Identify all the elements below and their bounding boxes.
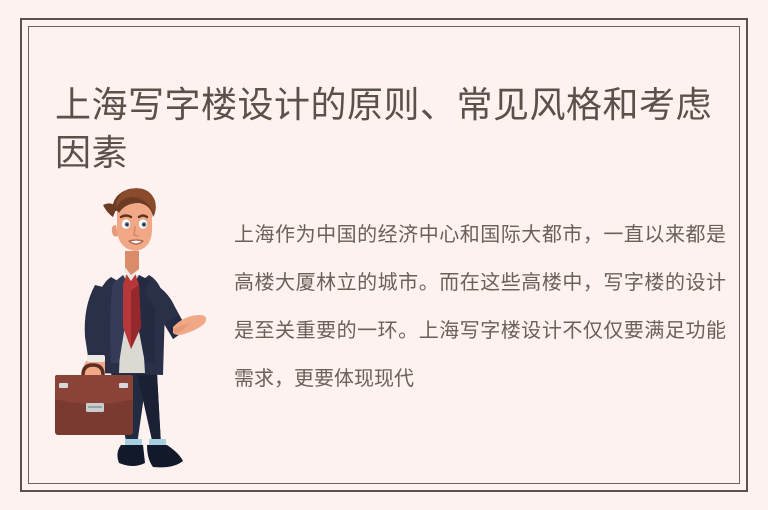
article-card: 上海写字楼设计的原则、常见风格和考虑因素 <box>20 18 748 492</box>
businessman-illustration <box>53 177 223 487</box>
article-body-text: 上海作为中国的经济中心和国际大都市，一直以来都是高楼大厦林立的城市。而在这些高楼… <box>234 211 726 403</box>
page-title: 上海写字楼设计的原则、常见风格和考虑因素 <box>55 81 715 177</box>
article-card-inner-border: 上海写字楼设计的原则、常见风格和考虑因素 <box>28 26 740 484</box>
article-content-row: 上海作为中国的经济中心和国际大都市，一直以来都是高楼大厦林立的城市。而在这些高楼… <box>29 177 739 483</box>
